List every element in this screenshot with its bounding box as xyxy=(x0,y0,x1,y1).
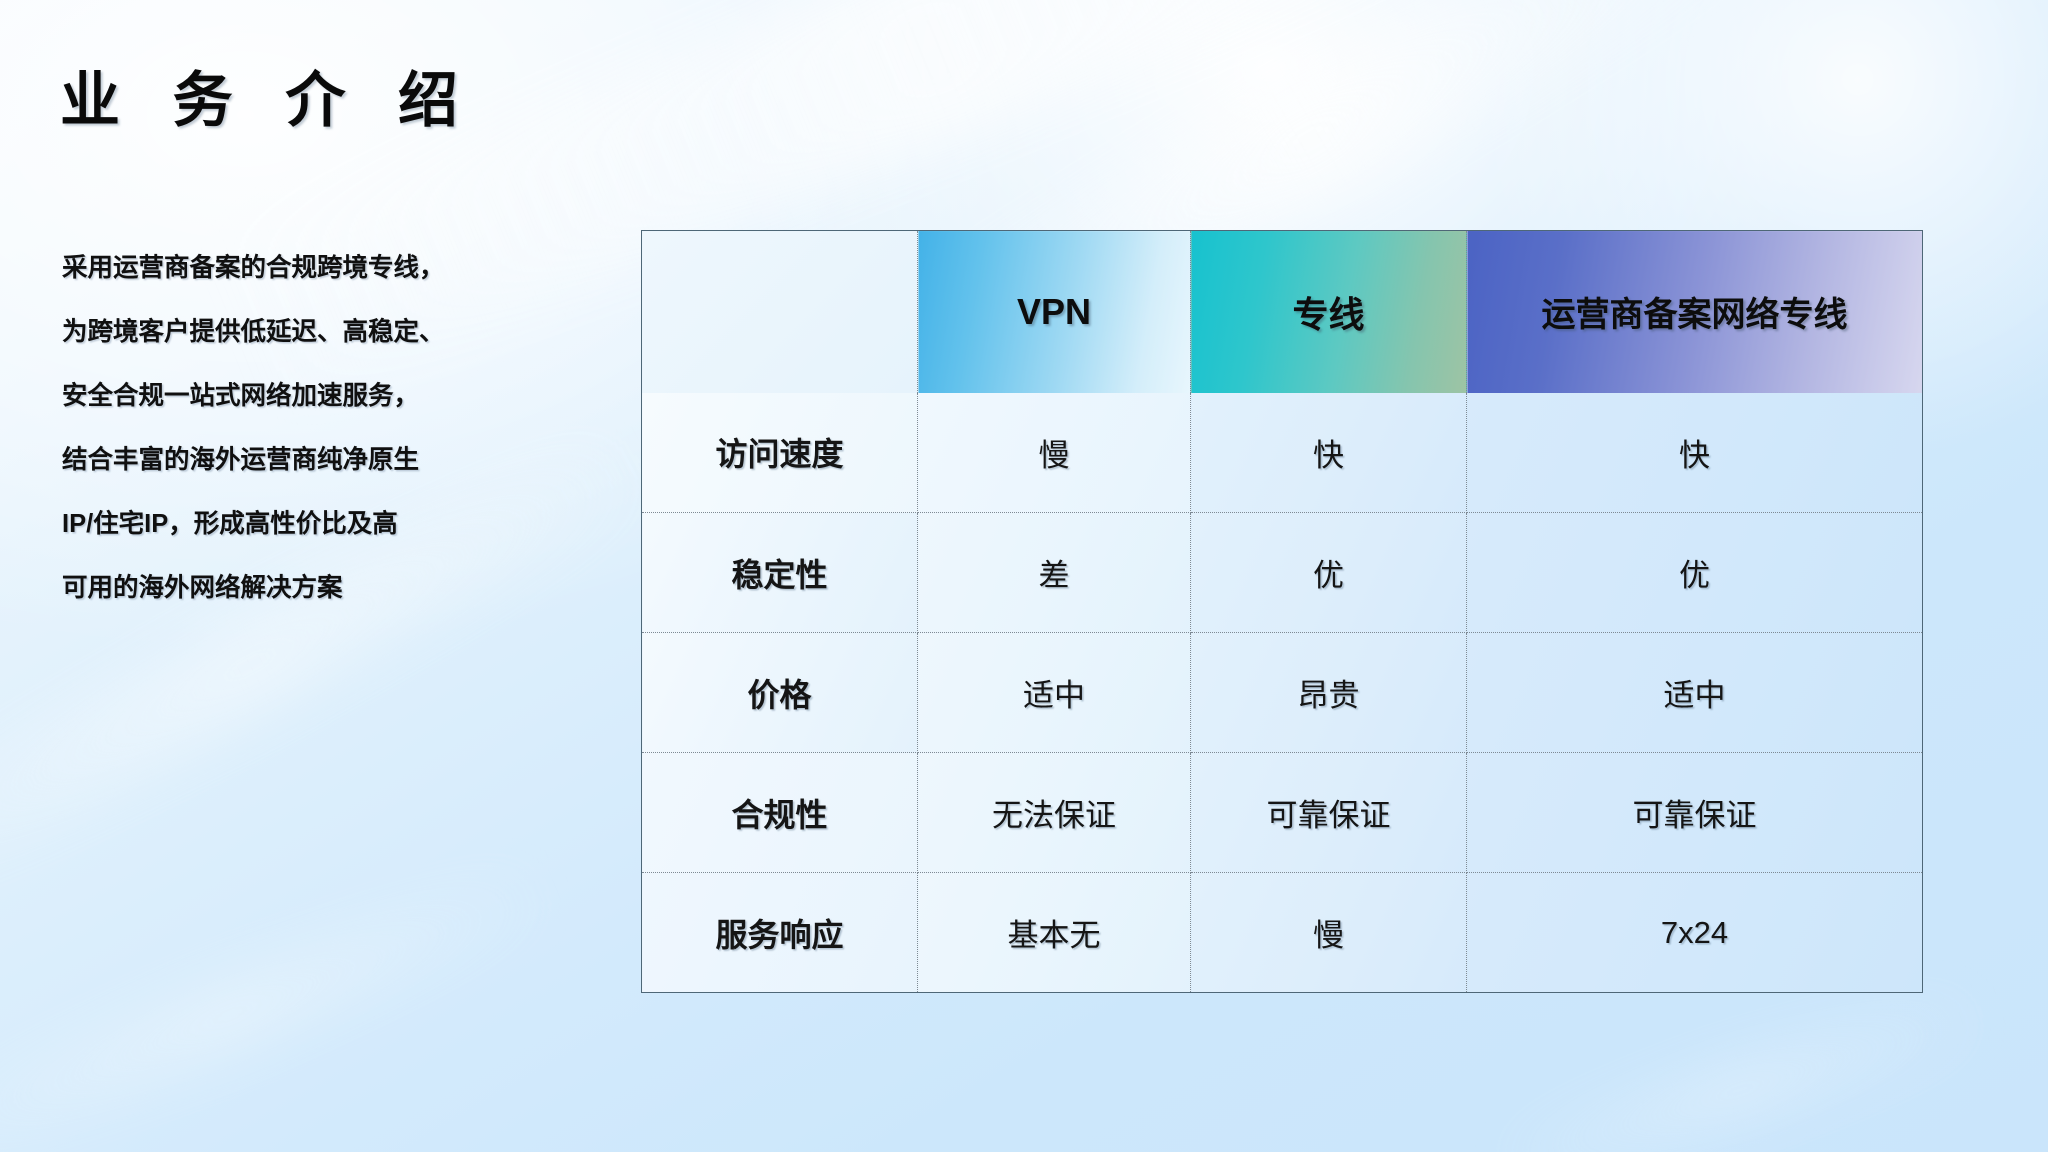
row-label: 服务响应 xyxy=(642,873,918,993)
intro-paragraph: 采用运营商备案的合规跨境专线， 为跨境客户提供低延迟、高稳定、 安全合规一站式网… xyxy=(62,236,482,620)
cell-line: 可靠保证 xyxy=(1191,753,1467,873)
row-label: 价格 xyxy=(642,633,918,753)
slide-canvas: 业 务 介 绍 采用运营商备案的合规跨境专线， 为跨境客户提供低延迟、高稳定、 … xyxy=(0,0,2048,1152)
cell-carrier: 快 xyxy=(1467,393,1923,513)
table-row: 合规性 无法保证 可靠保证 可靠保证 xyxy=(642,753,1923,873)
cell-carrier: 优 xyxy=(1467,513,1923,633)
cell-vpn: 基本无 xyxy=(918,873,1191,993)
intro-line: 采用运营商备案的合规跨境专线， xyxy=(62,236,482,300)
cell-carrier: 可靠保证 xyxy=(1467,753,1923,873)
intro-line: 可用的海外网络解决方案 xyxy=(62,556,482,620)
cell-line: 快 xyxy=(1191,393,1467,513)
page-title: 业 务 介 绍 xyxy=(60,52,476,139)
cell-vpn: 差 xyxy=(918,513,1191,633)
light-streak xyxy=(1483,981,1996,1152)
cell-carrier: 7x24 xyxy=(1467,873,1923,993)
cell-line: 慢 xyxy=(1191,873,1467,993)
table-row: 访问速度 慢 快 快 xyxy=(642,393,1923,513)
cell-vpn: 慢 xyxy=(918,393,1191,513)
comparison-table: VPN 专线 运营商备案网络专线 访问速度 慢 快 快 稳定性 差 优 优 价格… xyxy=(641,230,1923,993)
row-label: 访问速度 xyxy=(642,393,918,513)
intro-line: IP/住宅IP，形成高性价比及高 xyxy=(62,492,482,556)
table-header-line: 专线 xyxy=(1191,231,1467,393)
cell-carrier: 适中 xyxy=(1467,633,1923,753)
table-header: VPN 专线 运营商备案网络专线 xyxy=(642,231,1923,393)
row-label: 稳定性 xyxy=(642,513,918,633)
table-header-blank xyxy=(642,231,918,393)
table-row: 价格 适中 昂贵 适中 xyxy=(642,633,1923,753)
cell-line: 昂贵 xyxy=(1191,633,1467,753)
intro-line: 为跨境客户提供低延迟、高稳定、 xyxy=(62,300,482,364)
intro-line: 结合丰富的海外运营商纯净原生 xyxy=(62,428,482,492)
table-row: 稳定性 差 优 优 xyxy=(642,513,1923,633)
intro-line: 安全合规一站式网络加速服务， xyxy=(62,364,482,428)
table-header-vpn: VPN xyxy=(918,231,1191,393)
table-body: 访问速度 慢 快 快 稳定性 差 优 优 价格 适中 昂贵 适中 合规性 无法保… xyxy=(642,393,1923,993)
table-header-carrier: 运营商备案网络专线 xyxy=(1467,231,1923,393)
cell-vpn: 适中 xyxy=(918,633,1191,753)
light-streak xyxy=(0,851,568,1152)
cell-line: 优 xyxy=(1191,513,1467,633)
table-row: 服务响应 基本无 慢 7x24 xyxy=(642,873,1923,993)
cell-vpn: 无法保证 xyxy=(918,753,1191,873)
row-label: 合规性 xyxy=(642,753,918,873)
table-header-row: VPN 专线 运营商备案网络专线 xyxy=(642,231,1923,393)
